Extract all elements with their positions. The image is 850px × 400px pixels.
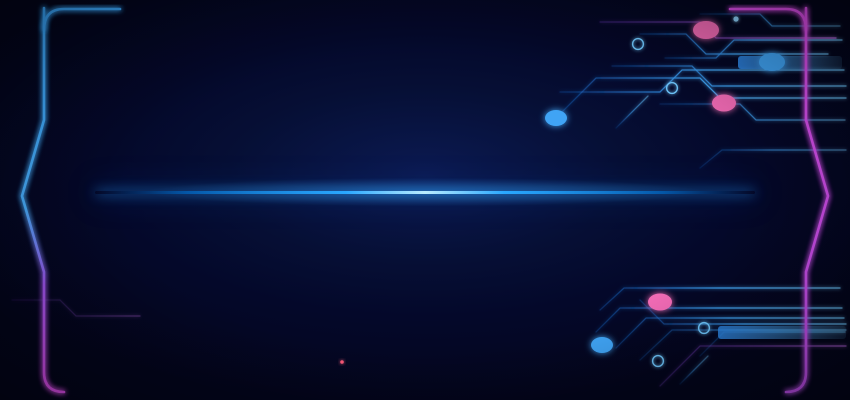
- circuit-node-pink: [693, 21, 719, 39]
- circuit-node-blue: [545, 110, 567, 126]
- circuit-node-pink: [648, 294, 672, 311]
- circuit-dot: [340, 360, 344, 364]
- circuit-node-blue: [759, 53, 785, 71]
- circuit-ring-node: [699, 323, 710, 334]
- promo-banner: [0, 0, 850, 400]
- circuit-node-blue: [591, 337, 613, 353]
- circuit-dot: [733, 16, 738, 21]
- circuit-node-pink: [712, 95, 736, 112]
- circuit-ring-node: [633, 39, 644, 50]
- circuit-ring-node: [653, 356, 664, 367]
- circuit-ring-node: [667, 83, 678, 94]
- divider-beam: [95, 191, 755, 194]
